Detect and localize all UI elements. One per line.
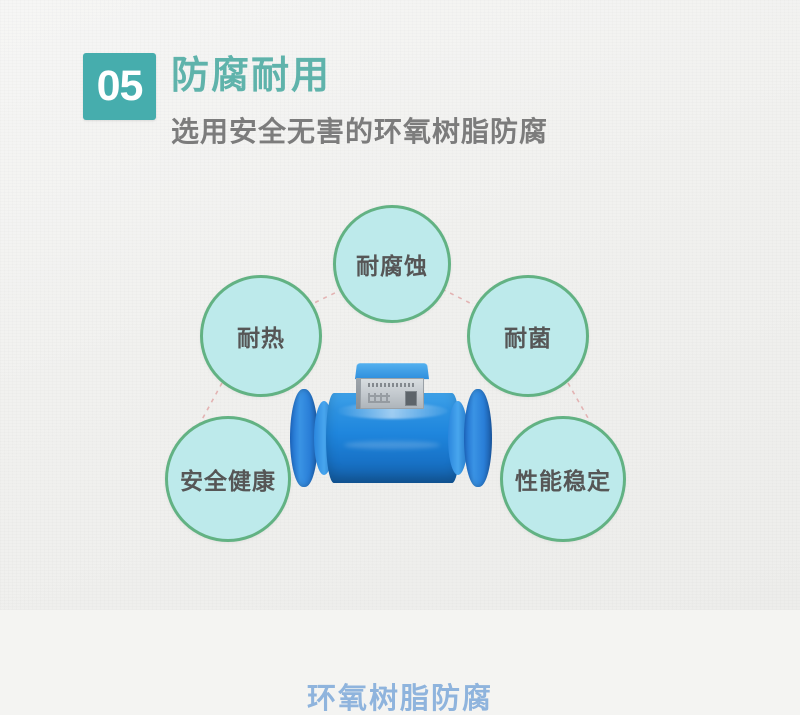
control-box-lid	[355, 363, 429, 379]
feature-bubble-label: 安全健康	[180, 462, 276, 496]
pipe-flange-right	[464, 389, 492, 487]
product-image	[278, 363, 508, 513]
control-panel-label-icon	[368, 383, 414, 387]
control-box-panel	[360, 378, 424, 409]
feature-bubble-corrosion-resistant[interactable]: 耐腐蚀	[333, 205, 451, 323]
section-number-badge: 05	[83, 53, 156, 120]
product-caption: 环氧树脂防腐	[0, 685, 800, 714]
feature-bubble-stable-performance[interactable]: 性能稳定	[500, 416, 626, 542]
control-panel-buttons-icon	[368, 393, 390, 403]
feature-bubble-diagram: 耐腐蚀 耐热 耐菌 安全健康 性能稳定 环氧树脂防腐	[0, 185, 800, 565]
pipe-highlight-secondary	[344, 441, 440, 449]
feature-bubble-label: 耐热	[237, 319, 285, 353]
connector-top-right	[442, 289, 472, 304]
feature-bubble-safe-healthy[interactable]: 安全健康	[165, 416, 291, 542]
page-subtitle: 选用安全无害的环氧树脂防腐	[171, 118, 548, 146]
page-title: 防腐耐用	[171, 57, 331, 95]
feature-bubble-label: 性能稳定	[515, 462, 611, 496]
control-panel-display-icon	[405, 391, 417, 406]
control-box	[356, 363, 428, 411]
feature-bubble-label: 耐腐蚀	[356, 247, 428, 281]
section-number-text: 05	[97, 65, 143, 108]
connector-top-left	[312, 289, 343, 304]
feature-bubble-label: 耐菌	[504, 319, 552, 353]
